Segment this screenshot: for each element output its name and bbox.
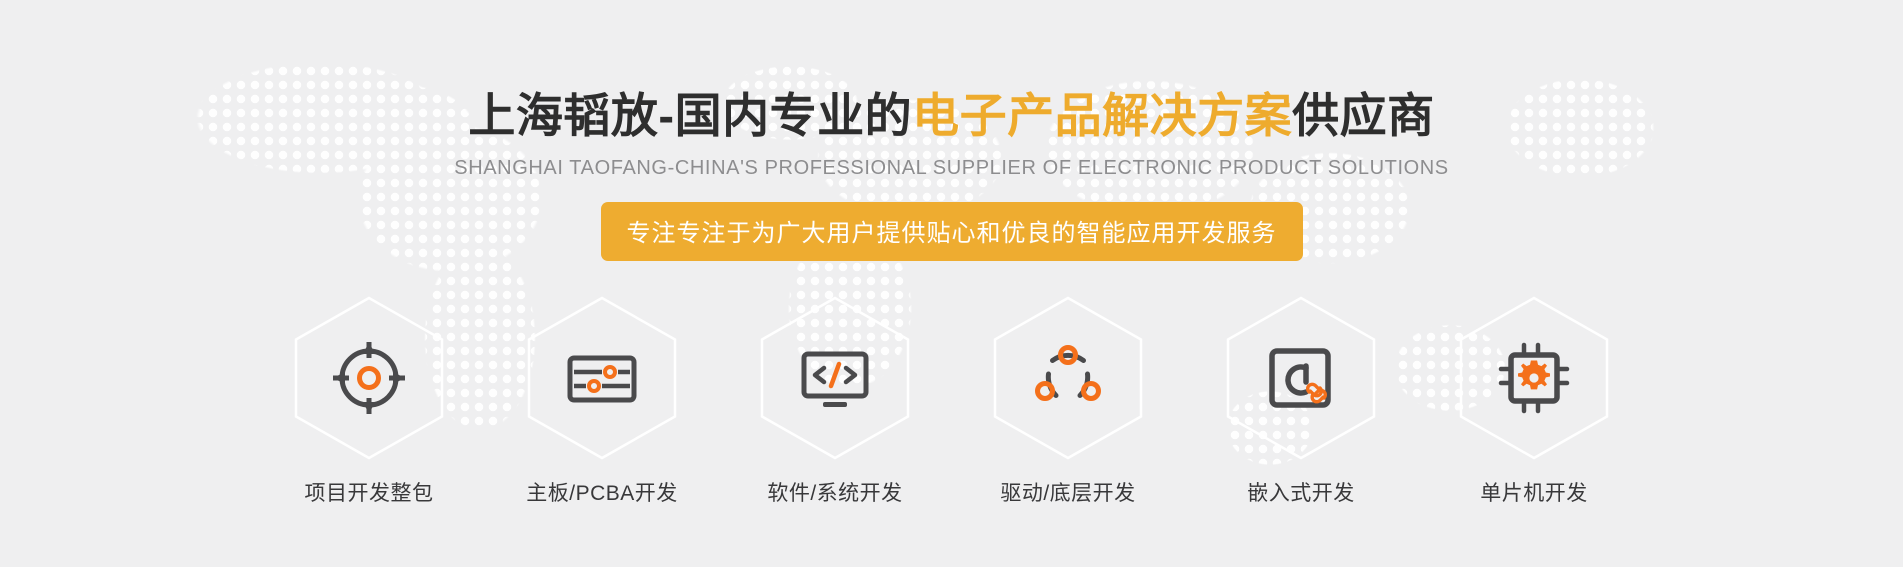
- hexagon-frame-1: [293, 295, 445, 461]
- banner-content: 上海韬放-国内专业的电子产品解决方案供应商 SHANGHAI TAOFANG-C…: [0, 0, 1903, 507]
- service-label: 项目开发整包: [305, 477, 434, 507]
- pcb-board-icon: [562, 338, 642, 418]
- service-label: 主板/PCBA开发: [526, 477, 678, 507]
- service-list: 项目开发整包: [0, 295, 1903, 507]
- node-network-icon: [1028, 338, 1108, 418]
- hexagon-frame-6: [1458, 295, 1610, 461]
- crosshair-target-icon: [329, 338, 409, 418]
- embedded-chip-link-icon: [1261, 338, 1341, 418]
- hexagon-frame-2: [526, 295, 678, 461]
- service-label: 嵌入式开发: [1247, 477, 1355, 507]
- service-item-pcba[interactable]: 主板/PCBA开发: [505, 295, 700, 507]
- page-title: 上海韬放-国内专业的电子产品解决方案供应商: [0, 0, 1903, 139]
- service-label: 单片机开发: [1480, 477, 1588, 507]
- service-item-project-package[interactable]: 项目开发整包: [272, 295, 467, 507]
- hexagon-frame-4: [992, 295, 1144, 461]
- service-item-embedded[interactable]: 嵌入式开发: [1204, 295, 1399, 507]
- hexagon-frame-5: [1225, 295, 1377, 461]
- headline-segment-accent: 电子产品解决方案: [912, 89, 1292, 142]
- service-label: 驱动/底层开发: [1000, 477, 1135, 507]
- hexagon-frame-3: [759, 295, 911, 461]
- mcu-gear-icon: [1494, 338, 1574, 418]
- page-subtitle: SHANGHAI TAOFANG-CHINA'S PROFESSIONAL SU…: [0, 157, 1903, 180]
- service-item-mcu[interactable]: 单片机开发: [1437, 295, 1632, 507]
- hero-banner: 上海韬放-国内专业的电子产品解决方案供应商 SHANGHAI TAOFANG-C…: [0, 0, 1903, 567]
- headline-segment-primary: 上海韬放-国内专业的: [468, 89, 912, 142]
- tagline-badge: 专注专注于为广大用户提供贴心和优良的智能应用开发服务: [601, 202, 1303, 261]
- headline-segment-suffix: 供应商: [1292, 89, 1435, 142]
- service-label: 软件/系统开发: [767, 477, 902, 507]
- service-item-software-system[interactable]: 软件/系统开发: [738, 295, 933, 507]
- monitor-code-icon: [795, 338, 875, 418]
- tagline-row: 专注专注于为广大用户提供贴心和优良的智能应用开发服务: [0, 202, 1903, 261]
- service-item-driver-lowlevel[interactable]: 驱动/底层开发: [971, 295, 1166, 507]
